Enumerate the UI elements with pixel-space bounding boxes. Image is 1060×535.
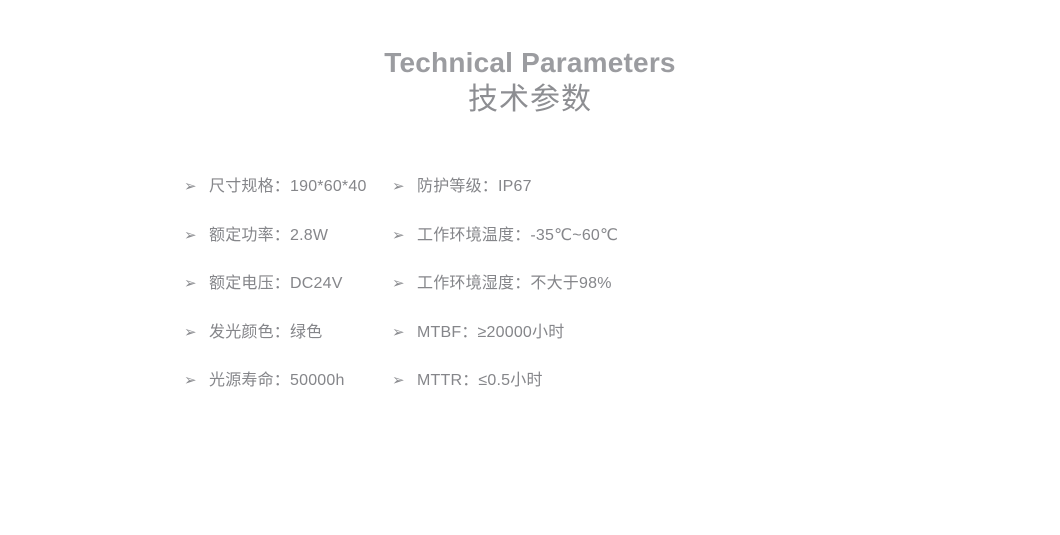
list-item: ➢ 额定电压：DC24V	[184, 273, 390, 322]
arrow-bullet-icon: ➢	[184, 322, 209, 342]
list-item: ➢ 防护等级：IP67	[392, 176, 1060, 225]
arrow-bullet-icon: ➢	[184, 273, 209, 293]
spec-dimension: 尺寸规格：190*60*40	[209, 177, 367, 197]
spec-rated-voltage: 额定电压：DC24V	[209, 274, 343, 294]
specifications-section: ➢ 尺寸规格：190*60*40 ➢ 额定功率：2.8W ➢ 额定电压：DC24…	[0, 176, 1060, 419]
list-item: ➢ 工作环境温度：-35℃~60℃	[392, 225, 1060, 274]
spec-operating-temperature: 工作环境温度：-35℃~60℃	[417, 226, 618, 246]
list-item: ➢ MTTR：≤0.5小时	[392, 370, 1060, 419]
technical-parameters-page: Technical Parameters 技术参数 ➢ 尺寸规格：190*60*…	[0, 0, 1060, 535]
spec-light-color: 发光颜色：绿色	[209, 323, 322, 343]
spec-protection-grade: 防护等级：IP67	[417, 177, 532, 197]
list-item: ➢ 尺寸规格：190*60*40	[184, 176, 390, 225]
arrow-bullet-icon: ➢	[392, 225, 417, 245]
arrow-bullet-icon: ➢	[184, 370, 209, 390]
spec-mttr: MTTR：≤0.5小时	[417, 371, 543, 391]
page-heading: Technical Parameters 技术参数	[0, 46, 1060, 120]
list-item: ➢ 工作环境湿度：不大于98%	[392, 273, 1060, 322]
arrow-bullet-icon: ➢	[184, 225, 209, 245]
list-item: ➢ MTBF：≥20000小时	[392, 322, 1060, 371]
spec-light-source-life: 光源寿命：50000h	[209, 371, 345, 391]
list-item: ➢ 发光颜色：绿色	[184, 322, 390, 371]
arrow-bullet-icon: ➢	[392, 273, 417, 293]
arrow-bullet-icon: ➢	[392, 176, 417, 196]
list-item: ➢ 光源寿命：50000h	[184, 370, 390, 419]
arrow-bullet-icon: ➢	[392, 370, 417, 390]
arrow-bullet-icon: ➢	[392, 322, 417, 342]
page-title-chinese: 技术参数	[0, 80, 1060, 120]
spec-mtbf: MTBF：≥20000小时	[417, 323, 564, 343]
spec-operating-humidity: 工作环境湿度：不大于98%	[417, 274, 612, 294]
specs-right-column: ➢ 防护等级：IP67 ➢ 工作环境温度：-35℃~60℃ ➢ 工作环境湿度：不…	[390, 176, 1060, 419]
spec-rated-power: 额定功率：2.8W	[209, 226, 328, 246]
specs-left-column: ➢ 尺寸规格：190*60*40 ➢ 额定功率：2.8W ➢ 额定电压：DC24…	[0, 176, 390, 419]
page-title-english: Technical Parameters	[0, 46, 1060, 80]
list-item: ➢ 额定功率：2.8W	[184, 225, 390, 274]
arrow-bullet-icon: ➢	[184, 176, 209, 196]
